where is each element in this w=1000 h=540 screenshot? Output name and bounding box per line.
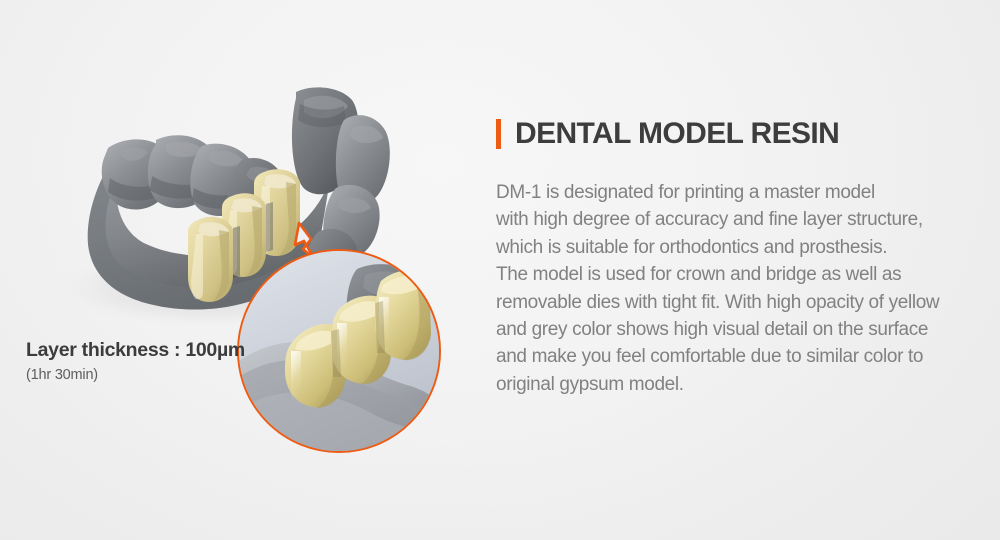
description-line: and make you feel comfortable due to sim… — [496, 343, 986, 370]
product-image-area: Layer thickness : 100µm (1hr 30min) — [0, 0, 480, 540]
page-title: DENTAL MODEL RESIN — [515, 119, 839, 149]
description-line: removable dies with tight fit. With high… — [496, 289, 986, 316]
description-line: with high degree of accuracy and fine la… — [496, 206, 986, 233]
description-line: The model is used for crown and bridge a… — [496, 261, 986, 288]
product-text-block: DENTAL MODEL RESIN DM-1 is designated fo… — [496, 112, 986, 398]
description-line: DM-1 is designated for printing a master… — [496, 179, 986, 206]
description-line: which is suitable for orthodontics and p… — [496, 234, 986, 261]
print-time-label: (1hr 30min) — [26, 367, 286, 383]
product-slide: Layer thickness : 100µm (1hr 30min) DENT… — [0, 0, 1000, 540]
product-description: DM-1 is designated for printing a master… — [496, 179, 986, 398]
description-line: original gypsum model. — [496, 371, 986, 398]
layer-thickness-label: Layer thickness : 100µm — [26, 338, 286, 362]
title-row: DENTAL MODEL RESIN — [496, 112, 986, 156]
description-line: and grey color shows high visual detail … — [496, 316, 986, 343]
spec-caption: Layer thickness : 100µm (1hr 30min) — [26, 338, 286, 383]
accent-bar — [496, 119, 501, 149]
